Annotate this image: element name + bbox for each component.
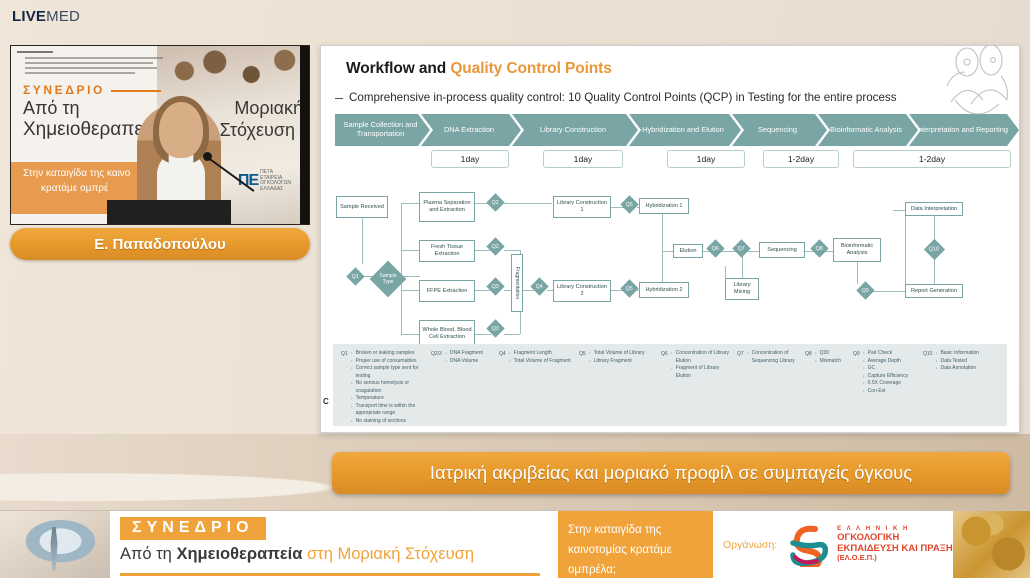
quality-point-q3-3: Q3 (486, 277, 504, 295)
legend-item: Concentration of Sequencing Library (747, 350, 799, 365)
organizer-name: Ε Λ Λ Η Ν Ι Κ Η ΟΓΚΟΛΟΓΙΚΗ ΕΚΠΑΙΔΕΥΣΗ ΚΑ… (837, 526, 953, 562)
flow-node-hybridization-2: Hybridization 2 (639, 282, 689, 298)
flow-node-elution: Elution (673, 244, 703, 258)
phase-arrow-1: DNA Extraction (421, 114, 521, 146)
speaker-name-label: Ε. Παπαδοπούλου (94, 236, 226, 253)
workflow-diagram: Sample ReceivedPlasma Separation and Ext… (321, 172, 1020, 344)
organizer-line3: (ΕΛ.Ο.Ε.Π.) (837, 554, 953, 562)
connector (401, 250, 419, 251)
phase-arrow-3: Hybridization and Elution (629, 114, 741, 146)
legend-item-list: Fragment LengthTotal Volume of Fragment (509, 350, 571, 420)
bullet-dash-icon (335, 98, 343, 99)
legend-key: Q9 (853, 350, 860, 420)
connector (504, 250, 520, 251)
podium (107, 200, 231, 224)
connector (504, 334, 520, 335)
flow-node-fresh-tissue: Fresh Tissue Extraction (419, 240, 475, 262)
quality-point-q5-6: Q5 (620, 195, 638, 213)
connector (401, 203, 419, 204)
duration-box-2: 1day (667, 150, 745, 168)
duration-box-4: 1-2day (853, 150, 1011, 168)
legend-item: No staining of sections (351, 418, 425, 426)
banner-title-c: στη (302, 545, 337, 563)
legend-group-q1: Q1Broken or leaking samplesProper use of… (341, 350, 425, 420)
poster-line1: Από τη (23, 98, 80, 119)
quality-point-q1-0: Q1 (346, 267, 364, 285)
poster-right-line1: Μοριακή (234, 98, 303, 119)
flow-node-library-construction-1: Library Construction 1 (553, 196, 611, 218)
phase-arrow-6: Interpretation and Reporting (909, 114, 1019, 146)
legend-item-list: Concentration of Library ElutionFragment… (671, 350, 731, 420)
legend-item: No serious hemolysis or coagulation (351, 380, 425, 395)
duration-box-0: 1day (431, 150, 509, 168)
legend-item: Pair Check (863, 350, 908, 358)
phase-arrow-0: Sample Collection and Transportation (335, 114, 430, 146)
flow-node-library-construction-2: Library Construction 2 (553, 280, 611, 302)
legend-key: Q5 (579, 350, 586, 420)
banner-underline (120, 573, 540, 576)
legend-item-list: Concentration of Sequencing Library (747, 350, 799, 420)
legend-corner-mark: C (323, 397, 329, 406)
video-right-strip (300, 46, 309, 224)
poster-right-line2: Στόχευση (220, 120, 295, 141)
connector (662, 214, 663, 290)
legend-key: Q10 (923, 350, 932, 420)
legend-item-list: Q30Mismatch (815, 350, 841, 420)
banner-conference-title: Από τη Χημειοθεραπεία στη Μοριακή Στόχευ… (120, 545, 558, 564)
quality-point-q5-7: Q5 (620, 279, 638, 297)
banner-right-image (953, 511, 1030, 578)
connector (362, 218, 363, 264)
connector (857, 262, 858, 284)
legend-item-list: DNA FragmentDNA Volume (445, 350, 483, 420)
flow-node-sequencing-node: Sequencing (759, 242, 805, 258)
connector (475, 334, 491, 335)
connector (401, 203, 402, 335)
quality-point-q8-10: Q8 (810, 239, 828, 257)
poster-pe-logo: ΠΕΠΕΤΑΕΤΑΙΡΕΙΑΟΓΚΟΛΟΓΩΝΕΛΛΑΔΑΣ (238, 170, 291, 192)
connector (475, 290, 491, 291)
poster-synedrio-label: ΣΥΝΕΔΡΙΟ (23, 83, 105, 97)
organizer-label: Οργάνωση: (723, 539, 777, 551)
slide-subtitle: Comprehensive in-process quality control… (349, 91, 959, 104)
phase-arrow-row: Sample Collection and TransportationDNA … (335, 114, 991, 146)
banner-organizer-block: Οργάνωση: Ε Λ Λ Η Ν Ι Κ Η ΟΓΚΟΛΟΓΙΚΗ ΕΚΠ… (713, 511, 953, 578)
quality-point-q9-11: Q9 (856, 281, 874, 299)
quality-point-q10-12: Q10 (924, 239, 945, 260)
legend-key: Q8 (805, 350, 812, 420)
legend-item-list: Pair CheckAverage DepthGCCapture Efficie… (863, 350, 908, 420)
legend-key: Q2/3 (431, 350, 442, 420)
connector (401, 334, 419, 335)
legend-item: Data Annotation (935, 365, 979, 373)
livemed-logo: LIVEMED (12, 8, 80, 25)
banner-title-d: Μοριακή Στόχευση (337, 545, 474, 563)
bottom-banner: ΣΥΝΕΔΡΙΟ Από τη Χημειοθεραπεία στη Μορια… (0, 510, 1030, 578)
eloep-logo-icon (785, 523, 829, 567)
legend-item: Broken or leaking samples (351, 350, 425, 358)
slide-title-plain: Workflow and (346, 60, 450, 77)
brand-bold: LIVE (12, 8, 46, 25)
poster-band-text1: Στην καταιγίδα της καινο (23, 168, 130, 179)
legend-group-q6: Q6Concentration of Library ElutionFragme… (661, 350, 731, 420)
legend-item: Correct sample type sent for testing (351, 365, 425, 380)
organizer-line2: ΟΓΚΟΛΟΓΙΚΗ ΕΚΠΑΙΔΕΥΣΗ ΚΑΙ ΠΡΑΞΗ (837, 533, 953, 554)
banner-synedrio-label: ΣΥΝΕΔΡΙΟ (120, 517, 266, 540)
quality-point-q4-5: Q4 (530, 277, 548, 295)
phase-arrow-4: Sequencing (732, 114, 827, 146)
connector (871, 291, 905, 292)
legend-item: 0.5X Coverage (863, 380, 908, 388)
legend-key: Q6 (661, 350, 668, 420)
poster-rule (111, 90, 161, 92)
legend-item: Mismatch (815, 358, 841, 366)
microphone-head-icon (203, 152, 212, 161)
legend-item: GC (863, 365, 908, 373)
flow-node-report-generation: Report Generation (905, 284, 963, 298)
legend-item: Data Tested (935, 358, 979, 366)
presentation-slide[interactable]: Workflow and Quality Control Points Comp… (320, 45, 1020, 433)
legend-group-q4: Q4Fragment LengthTotal Volume of Fragmen… (499, 350, 573, 420)
banner-title-a: Από τη (120, 545, 176, 563)
flow-node-ffpe-extraction: FFPE Extraction (419, 280, 475, 302)
slide-title: Workflow and Quality Control Points (346, 60, 612, 78)
duration-box-3: 1-2day (763, 150, 839, 168)
legend-item: Proper use of consumables (351, 358, 425, 366)
quality-point-q2-2: Q2 (486, 237, 504, 255)
legend-item: Total Volume of Fragment (509, 358, 571, 366)
legend-item: Temperature (351, 395, 425, 403)
quality-point-q7-9: Q7 (732, 239, 750, 257)
legend-item: Transport time is within the appropriate… (351, 403, 425, 418)
headline-text: Ιατρική ακριβείας και μοριακό προφίλ σε … (430, 462, 912, 484)
legend-item: Con Est (863, 388, 908, 396)
legend-item-list: Broken or leaking samplesProper use of c… (351, 350, 425, 420)
speaker-name-banner: Ε. Παπαδοπούλου (10, 228, 310, 260)
flow-node-data-interpretation: Data Interpretation (905, 202, 963, 216)
connector (905, 210, 906, 292)
poster-bullet-block (17, 51, 167, 77)
headline-bar: Ιατρική ακριβείας και μοριακό προφίλ σε … (332, 452, 1010, 494)
speaker-head (159, 102, 203, 158)
legend-group-q9: Q9Pair CheckAverage DepthGCCapture Effic… (853, 350, 917, 420)
connector (504, 203, 552, 204)
flow-node-fragmentation: Fragmentation (511, 254, 523, 312)
banner-title-b: Χημειοθεραπεία (176, 545, 302, 563)
legend-item: Total Volume of Library (589, 350, 645, 358)
quality-point-q6-8: Q6 (706, 239, 724, 257)
legend-group-q2-3: Q2/3DNA FragmentDNA Volume (431, 350, 493, 420)
duration-row: 1day1day1day1-2day1-2day (335, 150, 991, 168)
quality-point-q2-1: Q2 (486, 193, 504, 211)
slide-title-accent: Quality Control Points (450, 60, 611, 77)
legend-item-list: Basic InformationData TestedData Annotat… (935, 350, 979, 420)
banner-left-image (0, 511, 110, 578)
legend-group-q8: Q8Q30Mismatch (805, 350, 847, 420)
legend-item: DNA Volume (445, 358, 483, 366)
flow-node-plasma-separation: Plasma Separation and Extraction (419, 192, 475, 222)
legend-item: Fragment Length (509, 350, 571, 358)
legend-item: Fragment of Library Elution (671, 365, 731, 380)
legend-item: Basic Information (935, 350, 979, 358)
flow-node-bioinformatic-analysis-node: Bioinformatic Analysis (833, 238, 881, 262)
poster-band-text2: κρατάμε ομπρέ (41, 183, 108, 194)
flow-node-library-mixing: Library Mixing (725, 278, 759, 300)
banner-slogan: Στην καταιγίδα της καινοτομίας κρατάμε ο… (558, 511, 713, 578)
legend-group-q5: Q5Total Volume of LibraryLibrary Fragmen… (579, 350, 655, 420)
legend-item: Library Fragment (589, 358, 645, 366)
qcp-legend: Q1Broken or leaking samplesProper use of… (333, 344, 1007, 426)
flow-node-sample-received: Sample Received (336, 196, 388, 218)
phase-arrow-5: Bioinformatic Analysis (818, 114, 918, 146)
legend-item-list: Total Volume of LibraryLibrary Fragment (589, 350, 645, 420)
legend-group-q10: Q10Basic InformationData TestedData Anno… (923, 350, 983, 420)
banner-conference-block: ΣΥΝΕΔΡΙΟ Από τη Χημειοθεραπεία στη Μορια… (110, 511, 558, 578)
brand-light: MED (46, 8, 80, 25)
legend-item: Average Depth (863, 358, 908, 366)
duration-box-1: 1day (543, 150, 623, 168)
legend-key: Q4 (499, 350, 506, 420)
connector (475, 250, 491, 251)
page-root: LIVEMED ΣΥΝΕΔΡΙΟ Από τη Χημειοθεραπεία Μ… (0, 0, 1030, 578)
legend-item: DNA Fragment (445, 350, 483, 358)
legend-item: Concentration of Library Elution (671, 350, 731, 365)
legend-key: Q7 (737, 350, 744, 420)
flow-node-hybridization-1: Hybridization 1 (639, 198, 689, 214)
legend-item: Capture Efficiency (863, 373, 908, 381)
legend-key: Q1 (341, 350, 348, 420)
connector (401, 290, 419, 291)
phase-arrow-2: Library Construction (512, 114, 638, 146)
video-thumbnail[interactable]: ΣΥΝΕΔΡΙΟ Από τη Χημειοθεραπεία Μοριακή Σ… (10, 45, 310, 225)
legend-item: Q30 (815, 350, 841, 358)
legend-group-q7: Q7Concentration of Sequencing Library (737, 350, 799, 420)
